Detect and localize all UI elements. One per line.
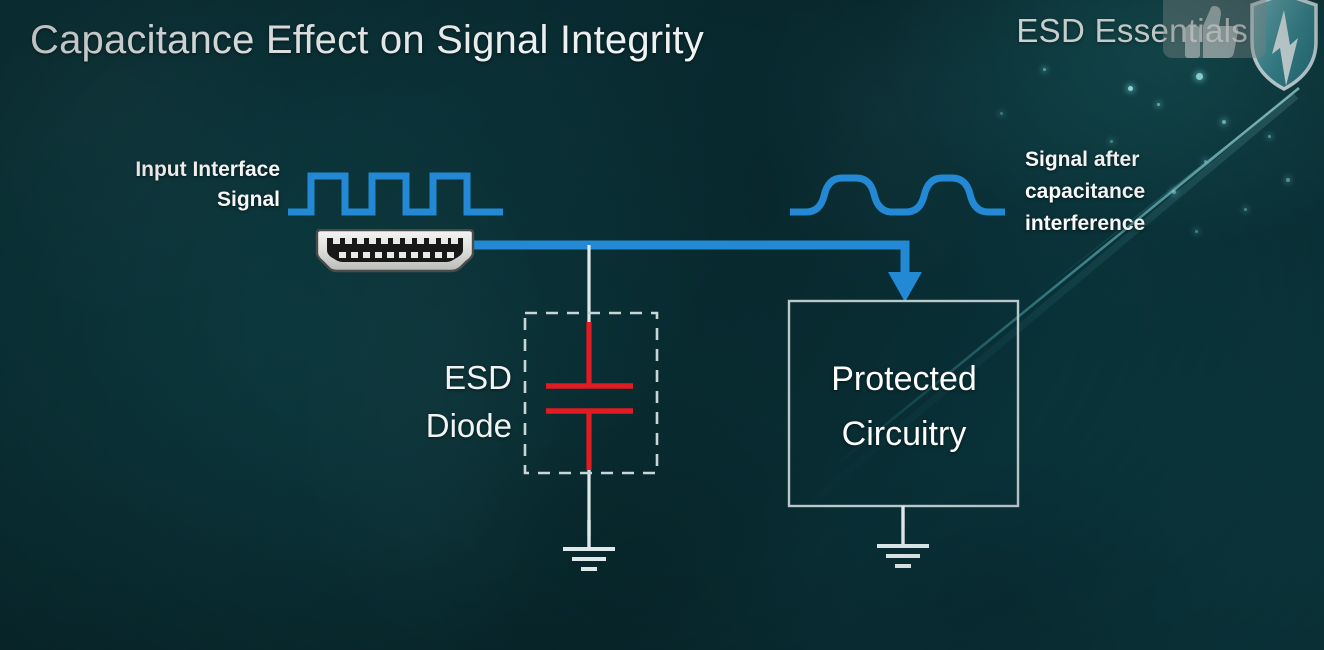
esd-diode-label: ESD Diode — [380, 354, 512, 450]
hdmi-connector-icon — [311, 229, 479, 273]
esd-diode-label-line2: Diode — [380, 402, 512, 450]
protected-circuitry-label-line2: Circuitry — [792, 407, 1016, 462]
ground-symbol-right — [877, 506, 929, 566]
ground-symbol-left — [563, 520, 615, 569]
capacitor-symbol — [546, 322, 633, 470]
waveform-input-square — [288, 176, 503, 212]
waveform-output-rounded — [788, 177, 1005, 212]
circuit-diagram — [0, 0, 1324, 650]
slide-canvas: Capacitance Effect on Signal Integrity E… — [0, 0, 1324, 650]
protected-circuitry-label-line1: Protected — [792, 352, 1016, 407]
esd-diode-label-line1: ESD — [380, 354, 512, 402]
signal-trace-blue — [474, 245, 922, 302]
arrow-down-icon — [888, 272, 922, 302]
protected-circuitry-label: Protected Circuitry — [792, 352, 1016, 462]
